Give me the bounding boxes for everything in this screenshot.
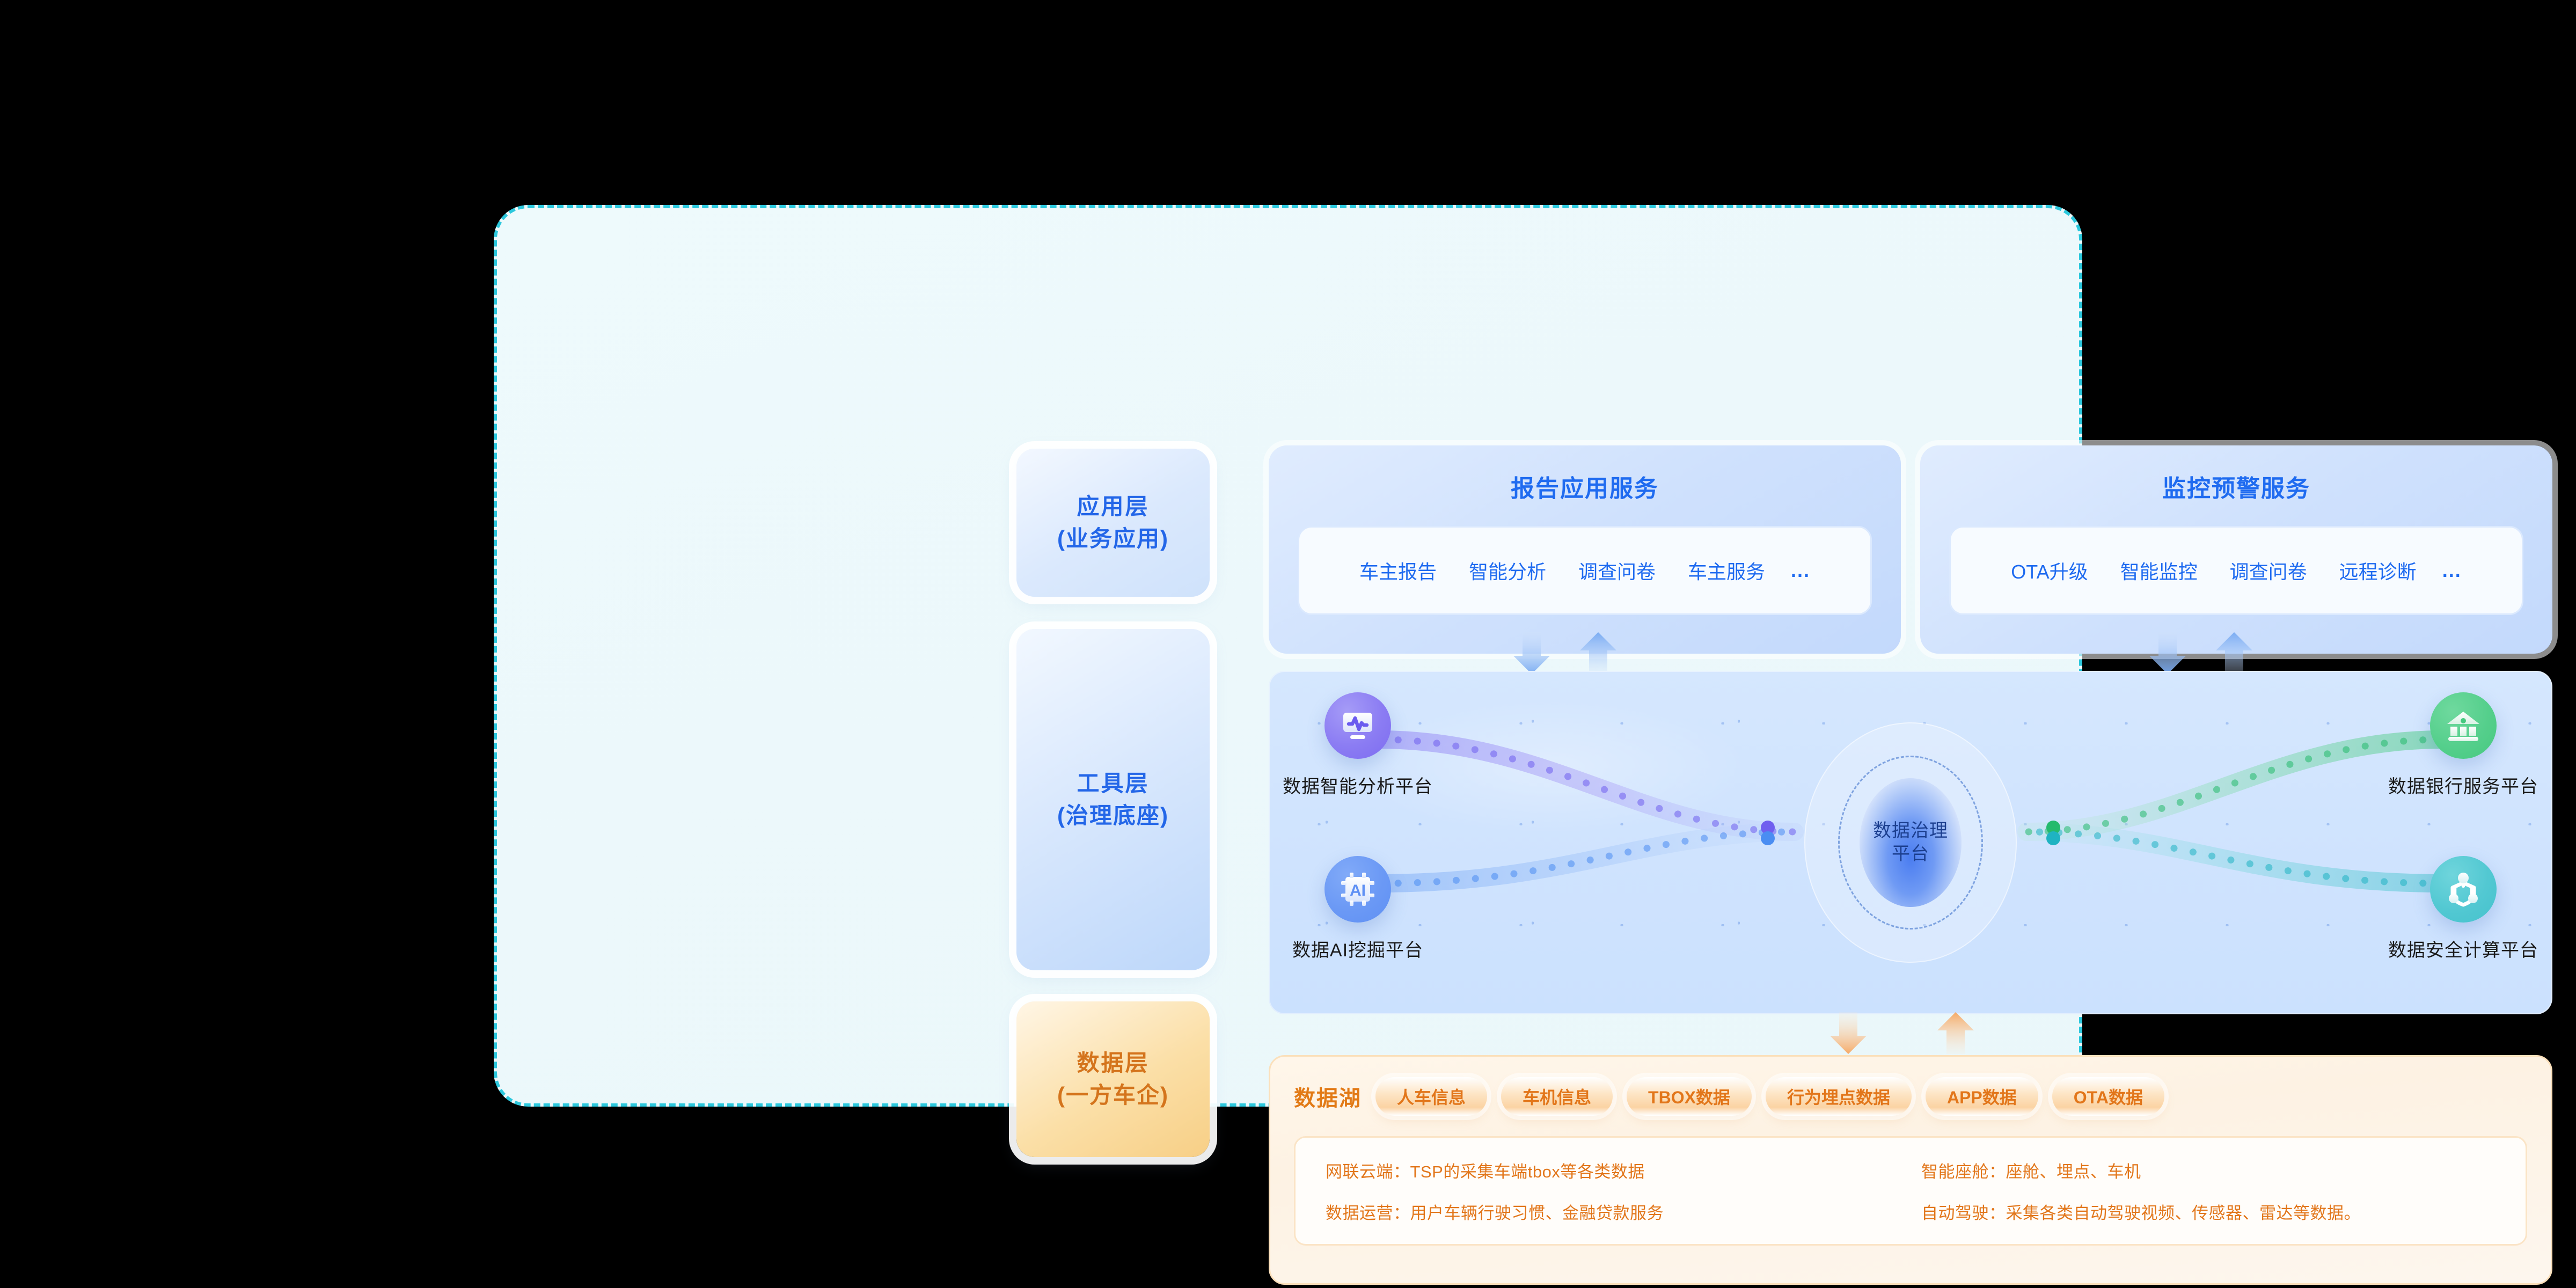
data-lake-pill[interactable]: 车机信息 <box>1501 1077 1613 1116</box>
data-lake-description-right: 智能座舱：座舱、埋点、车机 自动驾驶：采集各类自动驾驶视频、传感器、雷达等数据。 <box>1921 1161 2495 1220</box>
arrow-up-icon <box>2214 632 2255 674</box>
platform-node-analysis[interactable]: 数据智能分析平台 <box>1269 692 1449 798</box>
layer-tool-title: 工具层 <box>1077 767 1149 800</box>
data-lake-description-line: 网联云端：TSP的采集车端tbox等各类数据 <box>1326 1158 1900 1182</box>
ai-icon-text: AI <box>1350 882 1366 899</box>
connector-arrows-tool-data <box>1828 1012 2005 1054</box>
data-lake-header: 数据湖 人车信息 车机信息 TBOX数据 行为埋点数据 APP数据 OTA数据 <box>1294 1077 2527 1116</box>
service-tag[interactable]: 远程诊断 <box>2323 557 2433 584</box>
architecture-container: 应用层 (业务应用) 工具层 (治理底座) 数据层 (一方车企) 报告应用服务 … <box>494 205 2082 1107</box>
service-card-monitor-title: 监控预警服务 <box>2162 469 2310 503</box>
arrow-down-icon <box>1511 632 1552 674</box>
data-lake-description-left: 网联云端：TSP的采集车端tbox等各类数据 数据运营：用户车辆行驶习惯、金融贷… <box>1326 1161 1900 1220</box>
layer-application-title: 应用层 <box>1077 491 1149 523</box>
core-platform-subtitle: 平台 <box>1892 843 1929 866</box>
monitor-waveform-icon <box>1324 692 1391 759</box>
layer-data-title: 数据层 <box>1077 1047 1149 1079</box>
service-card-monitor[interactable]: 监控预警服务 OTA升级 智能监控 调查问卷 远程诊断 ... <box>1920 445 2552 654</box>
layer-chip-tool[interactable]: 工具层 (治理底座) <box>1016 629 1210 970</box>
service-card-report[interactable]: 报告应用服务 车主报告 智能分析 调查问卷 车主服务 ... <box>1269 445 1901 654</box>
layer-chip-application[interactable]: 应用层 (业务应用) <box>1016 449 1210 597</box>
layer-tool-subtitle: (治理底座) <box>1057 800 1169 832</box>
data-lake-description-box: 网联云端：TSP的采集车端tbox等各类数据 数据运营：用户车辆行驶习惯、金融贷… <box>1294 1136 2527 1246</box>
service-tag-more[interactable]: ... <box>1781 559 1826 582</box>
data-lake-title: 数据湖 <box>1294 1081 1362 1112</box>
data-lake-pill[interactable]: TBOX数据 <box>1627 1077 1752 1116</box>
arrow-up-icon <box>1935 1012 1976 1054</box>
platform-node-bank-label: 数据银行服务平台 <box>2372 772 2552 798</box>
core-platform-bubble: 数据治理 平台 <box>1860 778 1962 907</box>
layer-chip-data[interactable]: 数据层 (一方车企) <box>1016 1001 1210 1157</box>
data-lake-description-line: 智能座舱：座舱、埋点、车机 <box>1921 1158 2495 1182</box>
ai-chip-icon: AI <box>1324 856 1391 923</box>
application-layer: 报告应用服务 车主报告 智能分析 调查问卷 车主服务 ... 监控预警服务 OT… <box>1269 445 2552 654</box>
service-card-report-taglist: 车主报告 智能分析 调查问卷 车主服务 ... <box>1298 526 1872 615</box>
data-lake-description-line: 自动驾驶：采集各类自动驾驶视频、传感器、雷达等数据。 <box>1921 1199 2495 1224</box>
service-tag-more[interactable]: ... <box>2433 559 2478 582</box>
layer-rail: 应用层 (业务应用) 工具层 (治理底座) 数据层 (一方车企) <box>1016 449 1210 1285</box>
arrow-down-icon <box>2147 632 2188 674</box>
platform-node-security-label: 数据安全计算平台 <box>2372 935 2552 962</box>
platform-node-security[interactable]: 数据安全计算平台 <box>2372 856 2552 962</box>
data-lake-panel: 数据湖 人车信息 车机信息 TBOX数据 行为埋点数据 APP数据 OTA数据 … <box>1269 1055 2552 1285</box>
service-tag[interactable]: 调查问卷 <box>1562 557 1672 584</box>
connector-arrows-app-tool-right <box>2147 632 2255 674</box>
service-tag[interactable]: 车主报告 <box>1343 557 1453 584</box>
arrow-down-icon <box>1828 1012 1869 1054</box>
layer-application-subtitle: (业务应用) <box>1057 523 1169 555</box>
layer-data-subtitle: (一方车企) <box>1057 1079 1169 1111</box>
bank-building-icon <box>2430 692 2497 759</box>
service-tag[interactable]: 车主服务 <box>1672 557 1781 584</box>
platform-node-ai[interactable]: AI 数据AI挖掘平台 <box>1269 856 1449 962</box>
connector-arrows-app-tool-left <box>1511 632 1619 674</box>
service-tag[interactable]: 智能监控 <box>2104 557 2214 584</box>
platform-node-analysis-label: 数据智能分析平台 <box>1269 772 1449 798</box>
service-tag[interactable]: 智能分析 <box>1453 557 1562 584</box>
diagram-canvas: 应用层 (业务应用) 工具层 (治理底座) 数据层 (一方车企) 报告应用服务 … <box>0 0 2576 1288</box>
service-tag[interactable]: 调查问卷 <box>2214 557 2323 584</box>
service-card-monitor-taglist: OTA升级 智能监控 调查问卷 远程诊断 ... <box>1949 526 2523 615</box>
core-platform-title: 数据治理 <box>1873 819 1948 843</box>
secure-node-shield-icon <box>2430 856 2497 923</box>
service-card-report-title: 报告应用服务 <box>1511 469 1659 503</box>
platform-node-ai-label: 数据AI挖掘平台 <box>1269 935 1449 962</box>
service-tag[interactable]: OTA升级 <box>1995 557 2104 584</box>
arrow-up-icon <box>1578 632 1619 674</box>
core-platform-node[interactable]: 数据治理 平台 <box>1798 716 2023 969</box>
data-lake-pill[interactable]: APP数据 <box>1926 1077 2038 1116</box>
data-lake-pill[interactable]: OTA数据 <box>2052 1077 2164 1116</box>
data-lake-description-line: 数据运营：用户车辆行驶习惯、金融贷款服务 <box>1326 1199 1900 1224</box>
data-lake-pill[interactable]: 人车信息 <box>1375 1077 1487 1116</box>
data-lake-pill[interactable]: 行为埋点数据 <box>1766 1077 1912 1116</box>
tool-layer-panel: 数据智能分析平台 AI <box>1269 671 2552 1014</box>
platform-node-bank[interactable]: 数据银行服务平台 <box>2372 692 2552 798</box>
